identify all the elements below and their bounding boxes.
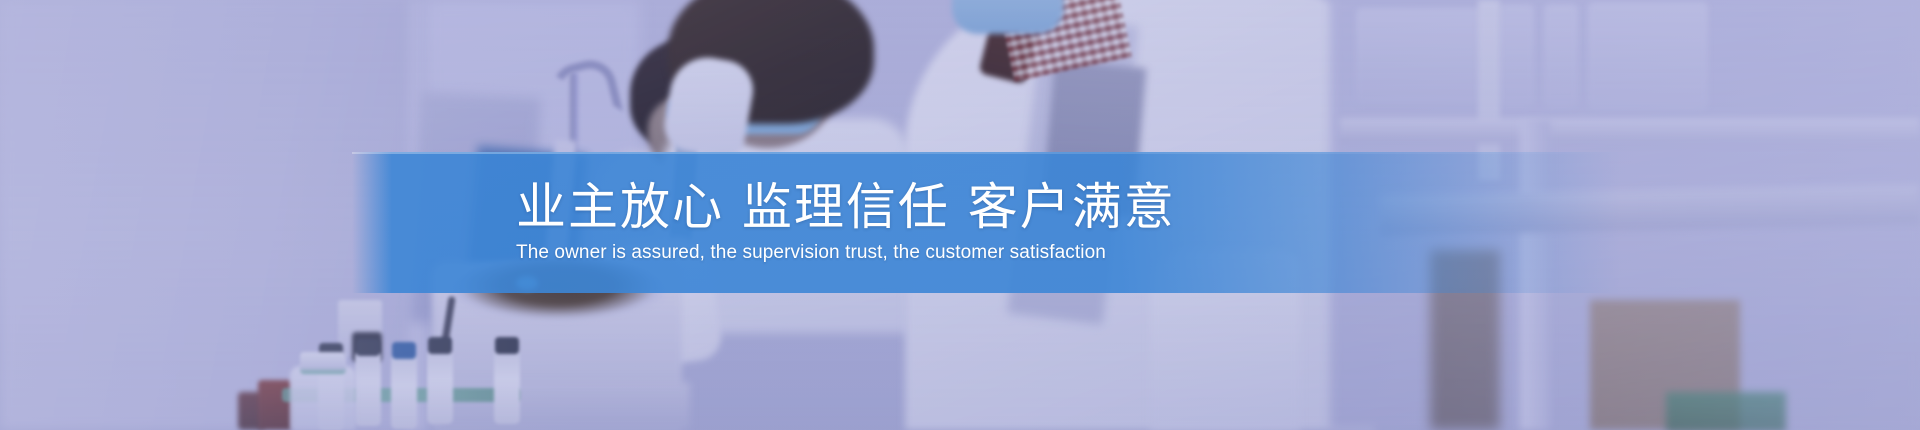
banner-text-block: 业主放心 监理信任 客户满意 The owner is assured, the…	[0, 152, 1920, 293]
banner-headline: 业主放心 监理信任 客户满意	[516, 181, 1176, 234]
banner-subheadline: The owner is assured, the supervision tr…	[516, 242, 1106, 265]
banner-root: 业主放心 监理信任 客户满意 The owner is assured, the…	[0, 0, 1920, 430]
